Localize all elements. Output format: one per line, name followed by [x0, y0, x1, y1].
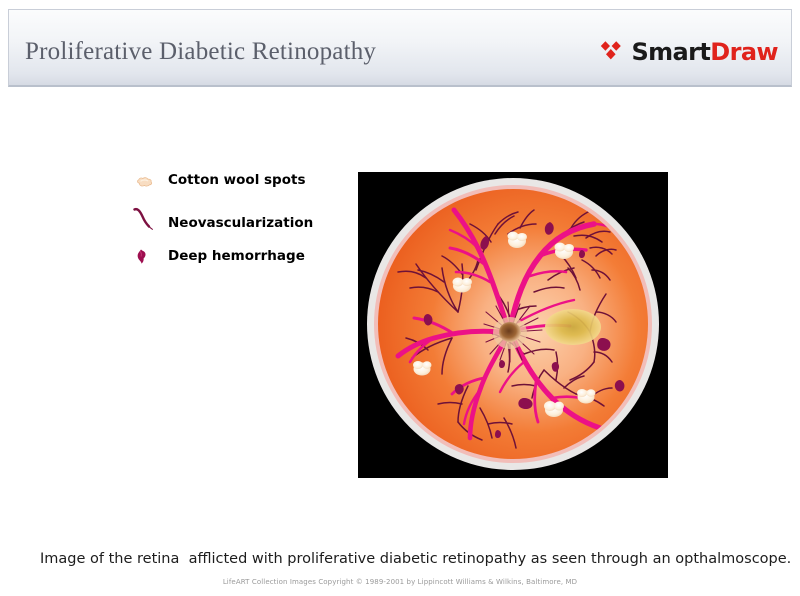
smartdraw-wordmark: SmartDraw — [631, 40, 778, 64]
figure-caption: Image of the retina afflicted with proli… — [40, 551, 791, 567]
cotton-wool-spot-icon — [132, 168, 166, 202]
legend: Cotton wool spots Neovascularization Dee… — [132, 168, 347, 279]
logo-text-smart: Smart — [631, 38, 710, 66]
page-title: Proliferative Diabetic Retinopathy — [25, 38, 376, 66]
copyright-notice: LifeART Collection Images Copyright © 19… — [0, 578, 800, 586]
smartdraw-diamond-icon — [598, 40, 624, 64]
deep-hemorrhage-icon — [132, 242, 166, 276]
retina-fundus-illustration — [358, 172, 668, 478]
neovascularization-icon — [132, 203, 166, 237]
legend-item-cotton-wool-spots: Cotton wool spots — [132, 168, 347, 205]
logo-text-draw: Draw — [710, 38, 778, 66]
smartdraw-logo[interactable]: SmartDraw — [598, 40, 778, 64]
legend-label-cotton-wool-spots: Cotton wool spots — [168, 172, 306, 188]
legend-label-neovascularization: Neovascularization — [168, 215, 313, 231]
legend-item-neovascularization: Neovascularization — [132, 205, 347, 242]
legend-label-deep-hemorrhage: Deep hemorrhage — [168, 248, 305, 264]
legend-item-deep-hemorrhage: Deep hemorrhage — [132, 242, 347, 279]
